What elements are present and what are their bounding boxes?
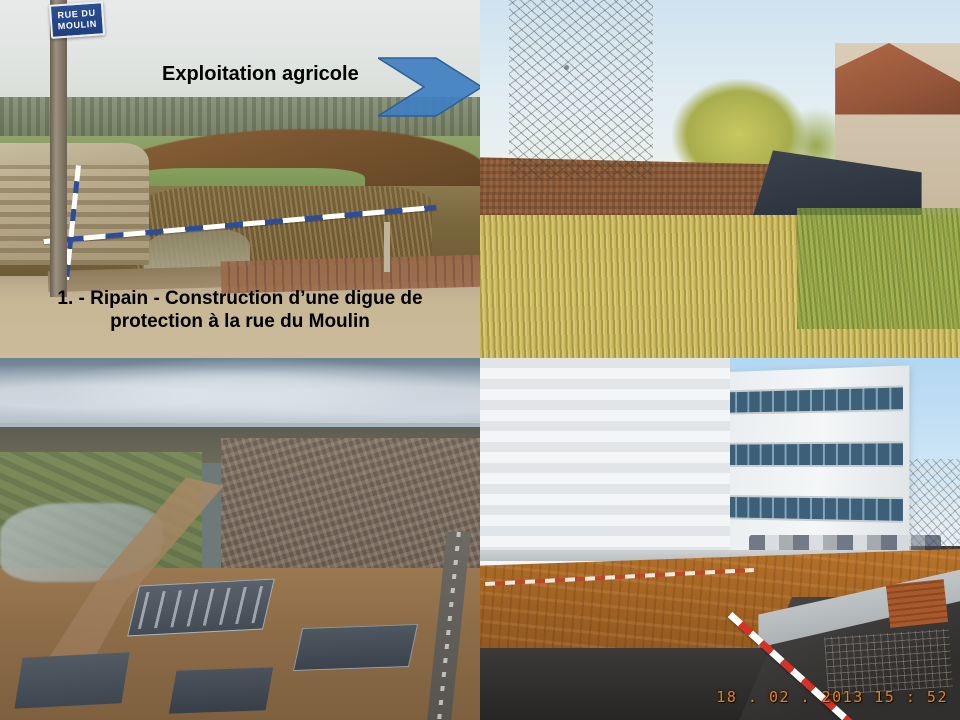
- photo-panel-3[interactable]: Etablissement Van Mieghem 3.Zoning Fabel…: [0, 358, 480, 720]
- utility-pole: [50, 0, 66, 297]
- steel-mesh: [824, 629, 953, 695]
- chevron-right-icon: [378, 56, 480, 118]
- photo-collage-slide: RUE DU MOULIN Exploitation agricole 1. -…: [0, 0, 960, 720]
- warehouse-roof-2: [292, 624, 417, 671]
- overlay-label-exploitation-agricole: Exploitation agricole: [162, 62, 359, 86]
- window-row-2: [725, 441, 903, 467]
- photo-panel-1[interactable]: RUE DU MOULIN Exploitation agricole 1. -…: [0, 0, 480, 358]
- street-sign-rue-du-moulin: RUE DU MOULIN: [49, 1, 105, 39]
- photo-panel-4[interactable]: Etablissement Van Mieghem 4.Construction…: [480, 358, 960, 720]
- bare-tree: [509, 0, 653, 179]
- photo-panel-2[interactable]: Digue de protection 2.Digue de protectio…: [480, 0, 960, 358]
- window-row-1: [725, 385, 903, 414]
- brick-pile: [886, 580, 948, 629]
- camera-timestamp: 18 . 02 . 2013 15 : 52: [716, 688, 948, 706]
- warehouse-roof-3: [15, 652, 130, 708]
- fence-post: [384, 222, 390, 272]
- green-grass-patch: [797, 208, 960, 330]
- panel-1-caption: 1. - Ripain - Construction d’une digue d…: [20, 288, 460, 334]
- street-sign-line-2: MOULIN: [57, 19, 97, 33]
- window-row-3: [725, 494, 903, 522]
- cloud-layer: [0, 358, 480, 423]
- white-cladding-wall: [480, 358, 730, 568]
- warehouse-roof-1: [128, 579, 276, 637]
- warehouse-roof-4: [169, 668, 273, 715]
